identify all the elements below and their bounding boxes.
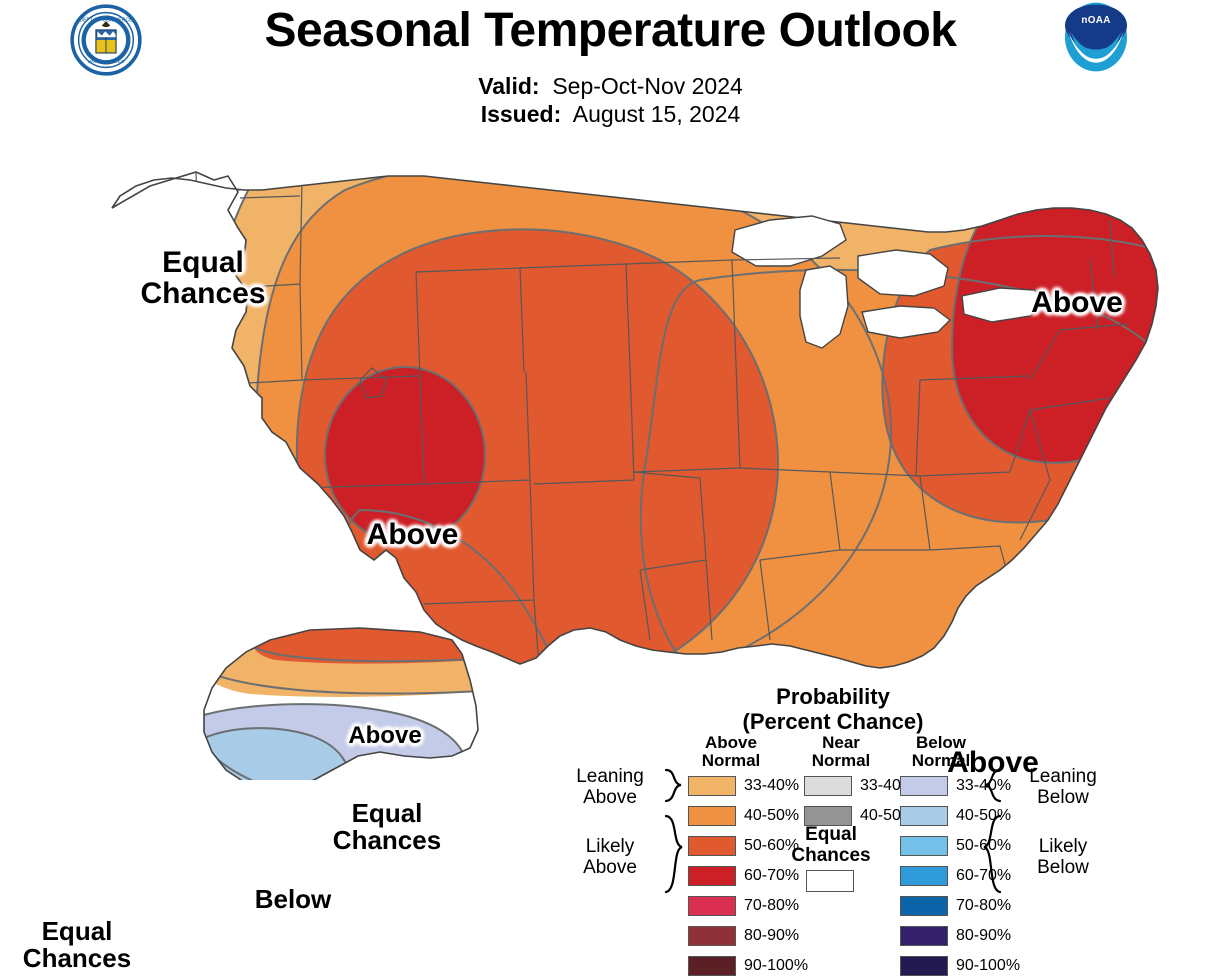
legend-label-below-90-100: 90-100%: [956, 956, 1020, 976]
legend-label-below-70-80: 70-80%: [956, 896, 1011, 916]
legend-bracket-likely-above: LikelyAbove: [562, 836, 658, 878]
legend-swatch-equal-chances: [806, 870, 854, 892]
map-label-below-alaska: Below: [238, 886, 348, 913]
map-label-above-northeast: Above: [1022, 288, 1132, 319]
legend-title: Probability(Percent Chance): [668, 684, 998, 734]
legend-swatch-above-80-90: [688, 926, 736, 946]
legend-bracket-leaning-below: LeaningBelow: [1013, 766, 1113, 808]
legend-swatch-below-70-80: [900, 896, 948, 916]
legend-swatch-above-50-60: [688, 836, 736, 856]
legend-swatch-above-40-50: [688, 806, 736, 826]
legend-swatch-below-80-90: [900, 926, 948, 946]
legend-label-below-80-90: 80-90%: [956, 926, 1011, 946]
legend-label-above-90-100: 90-100%: [744, 956, 808, 976]
legend-column-header-near: NearNormal: [795, 734, 887, 770]
legend-swatch-near-40-50: [804, 806, 852, 826]
legend-swatch-near-33-40: [804, 776, 852, 796]
legend-swatch-below-40-50: [900, 806, 948, 826]
legend-swatch-below-90-100: [900, 956, 948, 976]
legend-swatch-below-50-60: [900, 836, 948, 856]
legend-bracket-leaning-above: LeaningAbove: [562, 766, 658, 808]
legend-label-above-70-80: 70-80%: [744, 896, 799, 916]
legend-swatch-above-60-70: [688, 866, 736, 886]
legend-label-above-80-90: 80-90%: [744, 926, 799, 946]
map-graphic: [0, 80, 1221, 780]
map-label-equal-chances-west: EqualChances: [128, 248, 278, 309]
legend-column-header-below: BelowNormal: [895, 734, 987, 770]
map-label-equal-chances-alaska: EqualChances: [312, 800, 462, 853]
legend-label-below-33-40: 33-40%: [956, 776, 1011, 796]
region-above-60-70-northeast: [952, 187, 1217, 462]
legend-label-below-40-50: 40-50%: [956, 806, 1011, 826]
legend-swatch-above-90-100: [688, 956, 736, 976]
legend-label-below-50-60: 50-60%: [956, 836, 1011, 856]
legend-equal-chances-label: EqualChances: [776, 824, 886, 866]
legend: Probability(Percent Chance) AboveNormal …: [548, 684, 1221, 939]
legend-label-above-33-40: 33-40%: [744, 776, 799, 796]
page-title: Seasonal Temperature Outlook: [0, 2, 1221, 60]
legend-swatch-below-33-40: [900, 776, 948, 796]
alaska-inset: [40, 620, 500, 780]
legend-bracket-likely-below: LikelyBelow: [1013, 836, 1113, 878]
legend-swatch-below-60-70: [900, 866, 948, 886]
legend-swatch-above-70-80: [688, 896, 736, 916]
outlook-map: EqualChances Above Above Above Above Equ…: [0, 80, 1221, 780]
legend-column-header-above: AboveNormal: [685, 734, 777, 770]
legend-label-above-40-50: 40-50%: [744, 806, 799, 826]
map-label-above-alaska: Above: [330, 724, 440, 748]
legend-label-above-60-70: 60-70%: [744, 866, 799, 886]
map-label-above-central: Above: [340, 520, 485, 551]
legend-swatch-above-33-40: [688, 776, 736, 796]
legend-label-below-60-70: 60-70%: [956, 866, 1011, 886]
map-label-equal-chances-hawaii: EqualChances: [2, 918, 152, 971]
